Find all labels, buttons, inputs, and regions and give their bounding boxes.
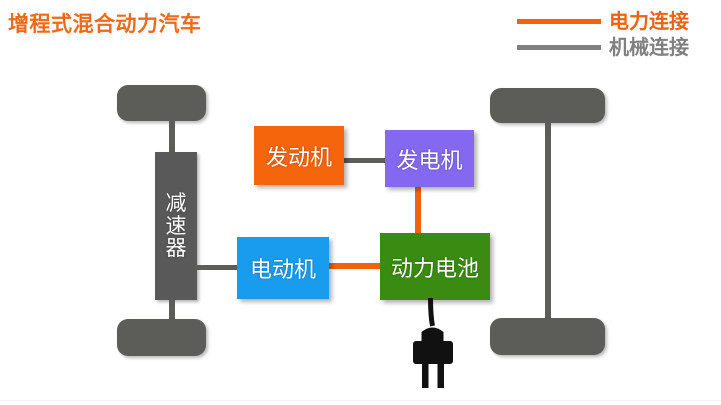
gearbox-char-2: 速	[166, 215, 187, 238]
component-battery-label: 动力电池	[391, 251, 479, 283]
legend-label-electric: 电力连接	[609, 11, 689, 31]
bottom-divider	[0, 400, 721, 401]
charging-plug-icon	[398, 298, 468, 390]
legend-swatch-electric-icon	[517, 19, 601, 24]
component-generator-label: 发电机	[396, 143, 462, 175]
page-title: 增程式混合动力汽车	[8, 8, 202, 38]
wheel-rear-right	[490, 318, 605, 355]
diagram-canvas: 增程式混合动力汽车 电力连接 机械连接 减 速 器 发动机	[0, 0, 721, 405]
legend: 电力连接 机械连接	[517, 8, 717, 60]
component-battery: 动力电池	[380, 233, 490, 300]
connection-battery-to-motor	[322, 263, 388, 269]
gearbox-char-3: 器	[166, 237, 187, 260]
component-motor: 电动机	[237, 237, 329, 299]
wheel-front-right	[490, 88, 605, 123]
connection-generator-to-battery	[415, 186, 421, 238]
component-generator: 发电机	[385, 130, 474, 187]
gearbox-char-1: 减	[166, 192, 187, 215]
component-gearbox: 减 速 器	[155, 152, 197, 300]
wheel-rear-left	[117, 319, 206, 356]
legend-label-mechanical: 机械连接	[609, 37, 689, 57]
component-motor-label: 电动机	[250, 252, 316, 284]
legend-item-electric: 电力连接	[517, 8, 717, 34]
component-engine-label: 发动机	[266, 140, 332, 172]
axle-right	[545, 120, 551, 320]
wheel-front-left	[117, 85, 206, 121]
legend-swatch-mechanical-icon	[517, 45, 601, 50]
legend-item-mechanical: 机械连接	[517, 34, 717, 60]
component-engine: 发动机	[254, 126, 344, 185]
axle-front-left	[169, 118, 175, 154]
